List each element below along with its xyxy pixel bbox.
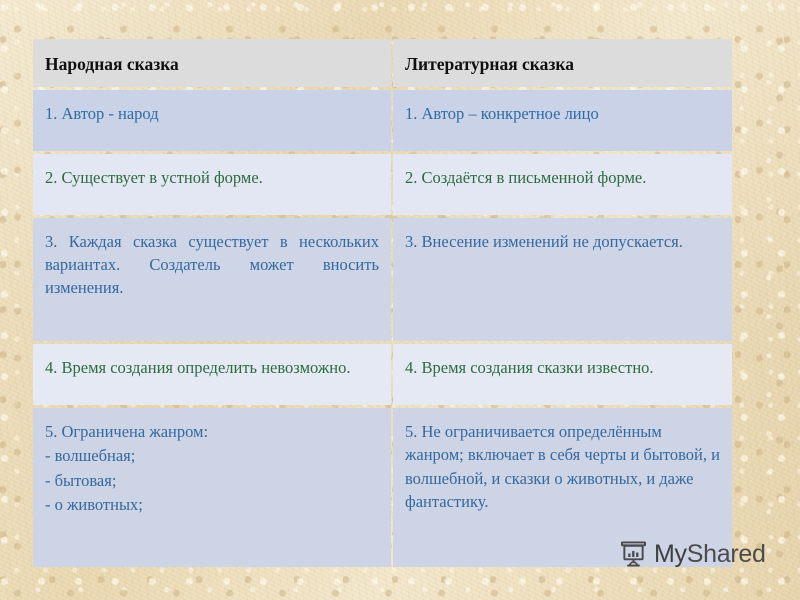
genre-item-animals: - о животных; <box>45 493 379 516</box>
genre-list-title: 5. Ограничена жанром: <box>45 420 379 443</box>
cell-literary-author: 1. Автор – конкретное лицо <box>393 90 732 151</box>
cell-folk-author: 1. Автор - народ <box>33 90 391 151</box>
cell-folk-creation-time: 4. Время создания определить невозможно. <box>33 344 391 405</box>
column-header-folk-tale: Народная сказка <box>33 39 391 87</box>
cell-folk-oral-form: 2. Существует в устной форме. <box>33 154 391 215</box>
comparison-table-container: Народная сказка Литературная сказка 1. А… <box>31 36 728 570</box>
cell-literary-creation-time: 4. Время создания сказки известно. <box>393 344 732 405</box>
cell-literary-no-changes: 3. Внесение изменений не допускается. <box>393 218 732 342</box>
table-header-row: Народная сказка Литературная сказка <box>33 39 732 87</box>
table-row: 5. Ограничена жанром: - волшебная; - быт… <box>33 408 732 567</box>
genre-item-everyday: - бытовая; <box>45 469 379 492</box>
cell-folk-genres: 5. Ограничена жанром: - волшебная; - быт… <box>33 408 391 567</box>
table-row: 2. Существует в устной форме. 2. Создаёт… <box>33 154 732 215</box>
cell-literary-written-form: 2. Создаётся в письменной форме. <box>393 154 732 215</box>
column-header-literary-tale: Литературная сказка <box>393 39 732 87</box>
cell-folk-variants: 3. Каждая сказка существует в нескольких… <box>33 218 391 342</box>
genre-item-magic: - волшебная; <box>45 444 379 467</box>
table-row: 4. Время создания определить невозможно.… <box>33 344 732 405</box>
table-row: 3. Каждая сказка существует в нескольких… <box>33 218 732 342</box>
cell-literary-genres: 5. Не ограничивается определённым жанром… <box>393 408 732 567</box>
folk-vs-literary-tale-table: Народная сказка Литературная сказка 1. А… <box>31 36 734 570</box>
table-row: 1. Автор - народ 1. Автор – конкретное л… <box>33 90 732 151</box>
